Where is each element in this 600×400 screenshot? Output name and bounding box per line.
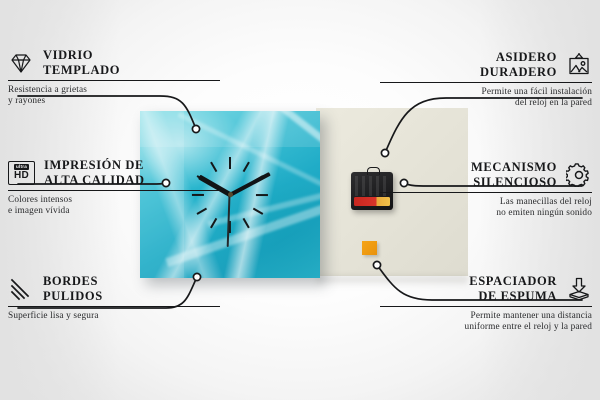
feature-title: BORDES PULIDOS — [43, 274, 103, 303]
feature-bordes-pulidos: BORDES PULIDOS Superficie lisa y segura — [8, 274, 220, 322]
feature-desc-line1: Las manecillas del reloj — [380, 197, 592, 208]
feature-title-line1: MECANISMO — [471, 160, 557, 175]
feature-divider — [380, 306, 592, 307]
feature-title-line1: VIDRIO — [43, 48, 120, 63]
feature-title-line2: PULIDOS — [43, 289, 103, 304]
diamond-icon — [8, 51, 34, 75]
feature-description: Colores intensos e imagen vívida — [8, 195, 220, 217]
feature-title-line2: SILENCIOSO — [471, 175, 557, 190]
feature-title-line2: DE ESPUMA — [469, 289, 557, 304]
movement-hanger — [367, 167, 380, 175]
diagonal-lines-icon — [8, 277, 34, 301]
feature-title: IMPRESIÓN DE ALTA CALIDAD — [44, 158, 145, 187]
infographic-canvas: VIDRIO TEMPLADO Resistencia a grietas y … — [0, 0, 600, 400]
feature-desc-line1: Permite mantener una distancia — [380, 311, 592, 322]
feature-title-line1: IMPRESIÓN DE — [44, 158, 145, 173]
foam-spacer — [362, 241, 377, 255]
feature-title-line1: ASIDERO — [480, 50, 557, 65]
feature-description: Superficie lisa y segura — [8, 311, 220, 322]
feature-desc-line2: e imagen vívida — [8, 206, 220, 217]
feature-title: MECANISMO SILENCIOSO — [471, 160, 557, 189]
feature-desc-line1: Resistencia a grietas — [8, 85, 220, 96]
feature-desc-line1: Superficie lisa y segura — [8, 311, 220, 322]
feature-title: VIDRIO TEMPLADO — [43, 48, 120, 77]
feature-impresion-alta-calidad: ultra HD IMPRESIÓN DE ALTA CALIDAD Color… — [8, 158, 220, 217]
feature-title-line1: BORDES — [43, 274, 103, 289]
hand-center-cap — [228, 192, 233, 197]
feature-desc-line2: del reloj en la pared — [380, 98, 592, 109]
feature-vidrio-templado: VIDRIO TEMPLADO Resistencia a grietas y … — [8, 48, 220, 107]
feature-title-line1: ESPACIADOR — [469, 274, 557, 289]
feature-title-line2: TEMPLADO — [43, 63, 120, 78]
ultra-hd-badge-main: HD — [14, 171, 29, 181]
feature-description: Las manecillas del reloj no emiten ningú… — [380, 197, 592, 219]
press-down-foam-icon — [566, 277, 592, 301]
ultra-hd-icon: ultra HD — [8, 161, 35, 185]
feature-desc-line2: y rayones — [8, 96, 220, 107]
feature-divider — [8, 306, 220, 307]
feature-divider — [380, 192, 592, 193]
feature-asidero-duradero: ASIDERO DURADERO Permite una fácil insta… — [380, 50, 592, 109]
feature-title: ESPACIADOR DE ESPUMA — [469, 274, 557, 303]
feature-divider — [380, 82, 592, 83]
feature-desc-line1: Permite una fácil instalación — [380, 87, 592, 98]
feature-espaciador-de-espuma: ESPACIADOR DE ESPUMA Permite mantener un… — [380, 274, 592, 333]
feature-divider — [8, 190, 220, 191]
feature-desc-line2: uniforme entre el reloj y la pared — [380, 322, 592, 333]
feature-description: Resistencia a grietas y rayones — [8, 85, 220, 107]
feature-title: ASIDERO DURADERO — [480, 50, 557, 79]
feature-desc-line2: no emiten ningún sonido — [380, 208, 592, 219]
feature-desc-line1: Colores intensos — [8, 195, 220, 206]
feature-mecanismo-silencioso: MECANISMO SILENCIOSO Las manecillas del … — [380, 160, 592, 219]
feature-title-line2: ALTA CALIDAD — [44, 173, 145, 188]
feature-divider — [8, 80, 220, 81]
feature-title-line2: DURADERO — [480, 65, 557, 80]
feature-description: Permite una fácil instalación del reloj … — [380, 87, 592, 109]
feature-description: Permite mantener una distancia uniforme … — [380, 311, 592, 333]
hanging-frame-icon — [566, 53, 592, 77]
gear-icon — [566, 163, 592, 187]
